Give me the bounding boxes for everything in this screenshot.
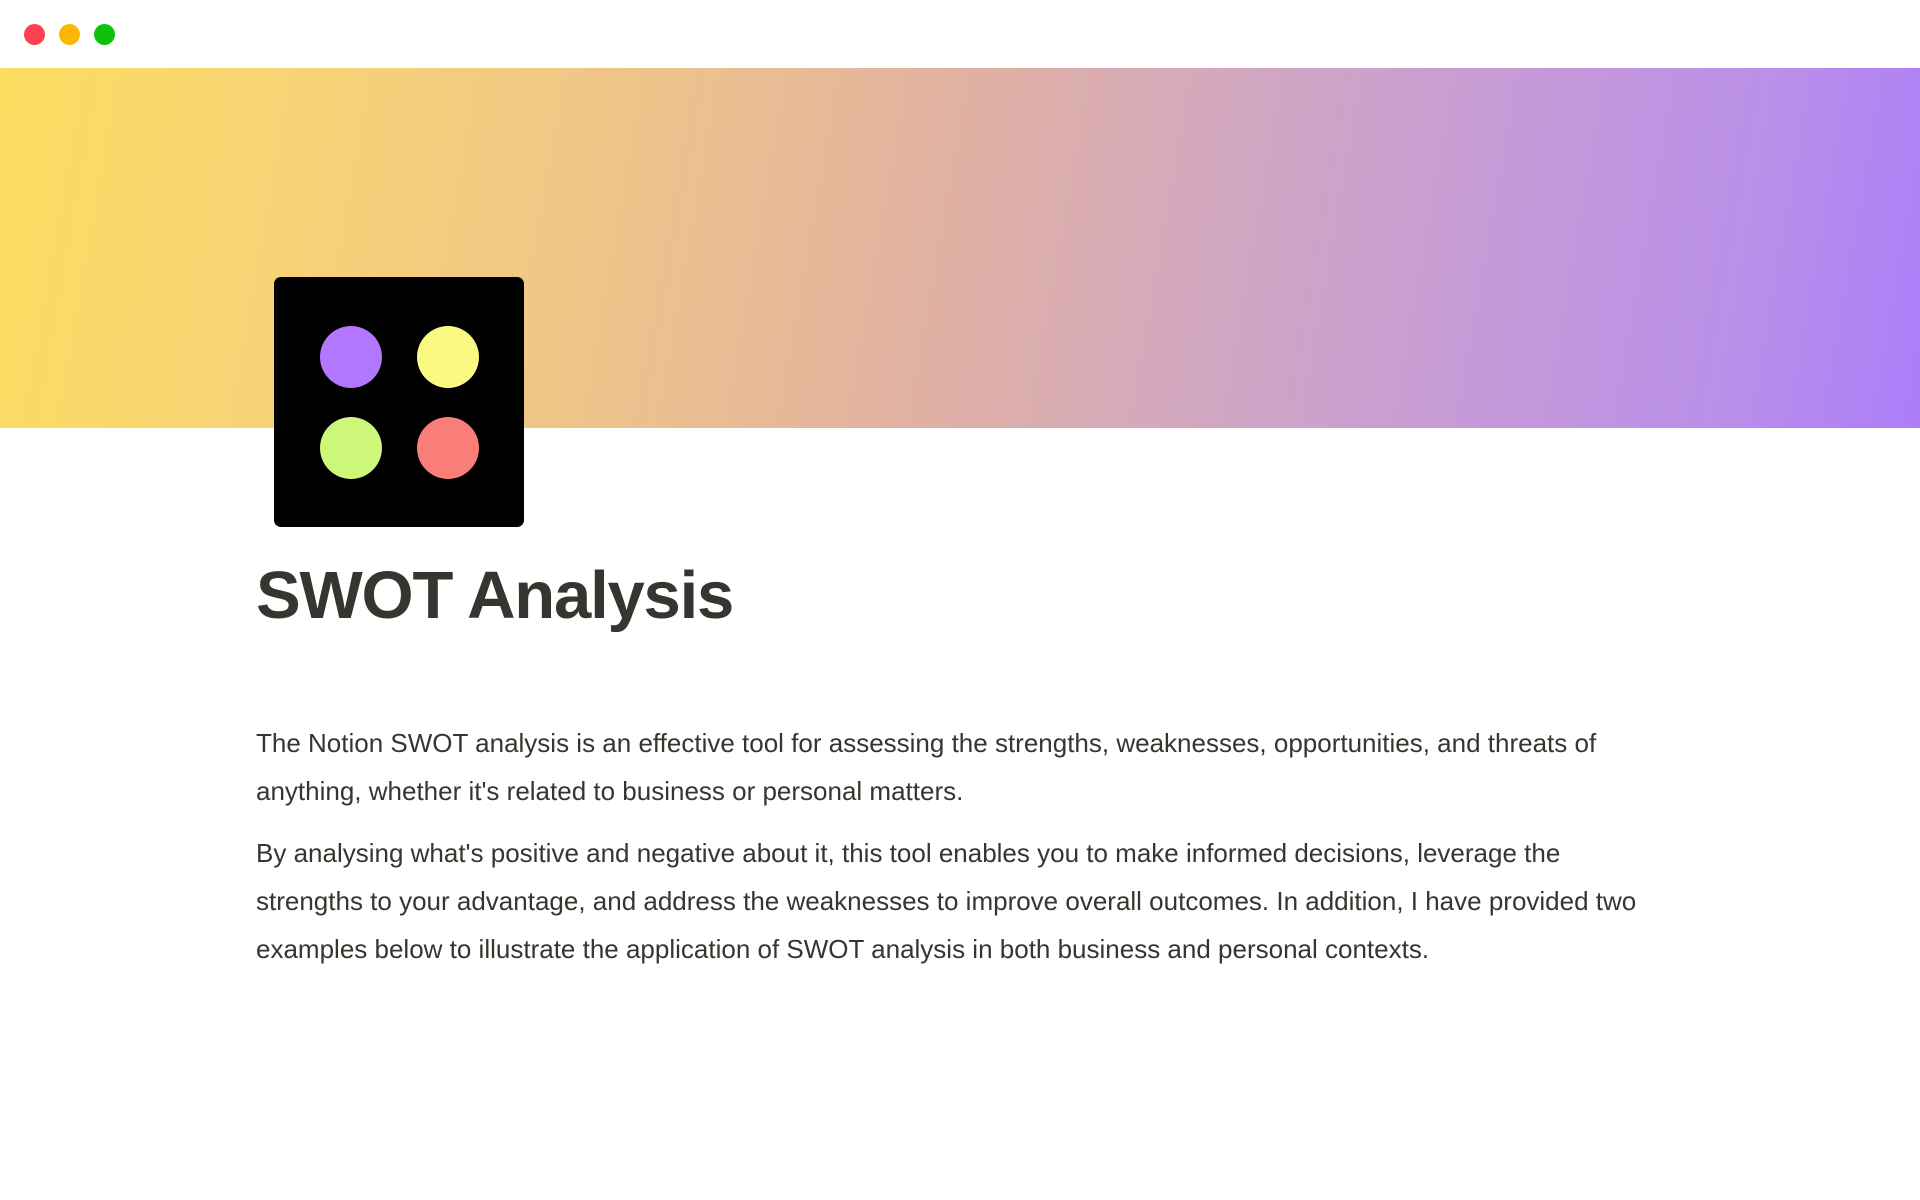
- page-title[interactable]: SWOT Analysis: [256, 560, 1720, 631]
- page-icon-dot-yellow-icon: [417, 326, 479, 388]
- page-icon-dot-lime-icon: [320, 417, 382, 479]
- traffic-light-controls: [24, 24, 115, 45]
- page-icon-dot-purple-icon: [320, 326, 382, 388]
- paragraph-block[interactable]: The Notion SWOT analysis is an effective…: [256, 719, 1651, 815]
- close-window-button[interactable]: [24, 24, 45, 45]
- page-icon[interactable]: [274, 277, 524, 527]
- window-title-bar: [0, 0, 1920, 68]
- page-icon-dot-coral-icon: [417, 417, 479, 479]
- minimize-window-button[interactable]: [59, 24, 80, 45]
- paragraph-block[interactable]: By analysing what's positive and negativ…: [256, 829, 1651, 973]
- maximize-window-button[interactable]: [94, 24, 115, 45]
- page-content: SWOT Analysis The Notion SWOT analysis i…: [0, 560, 1920, 973]
- app-window: SWOT Analysis The Notion SWOT analysis i…: [0, 0, 1920, 1200]
- page-body: The Notion SWOT analysis is an effective…: [256, 719, 1656, 973]
